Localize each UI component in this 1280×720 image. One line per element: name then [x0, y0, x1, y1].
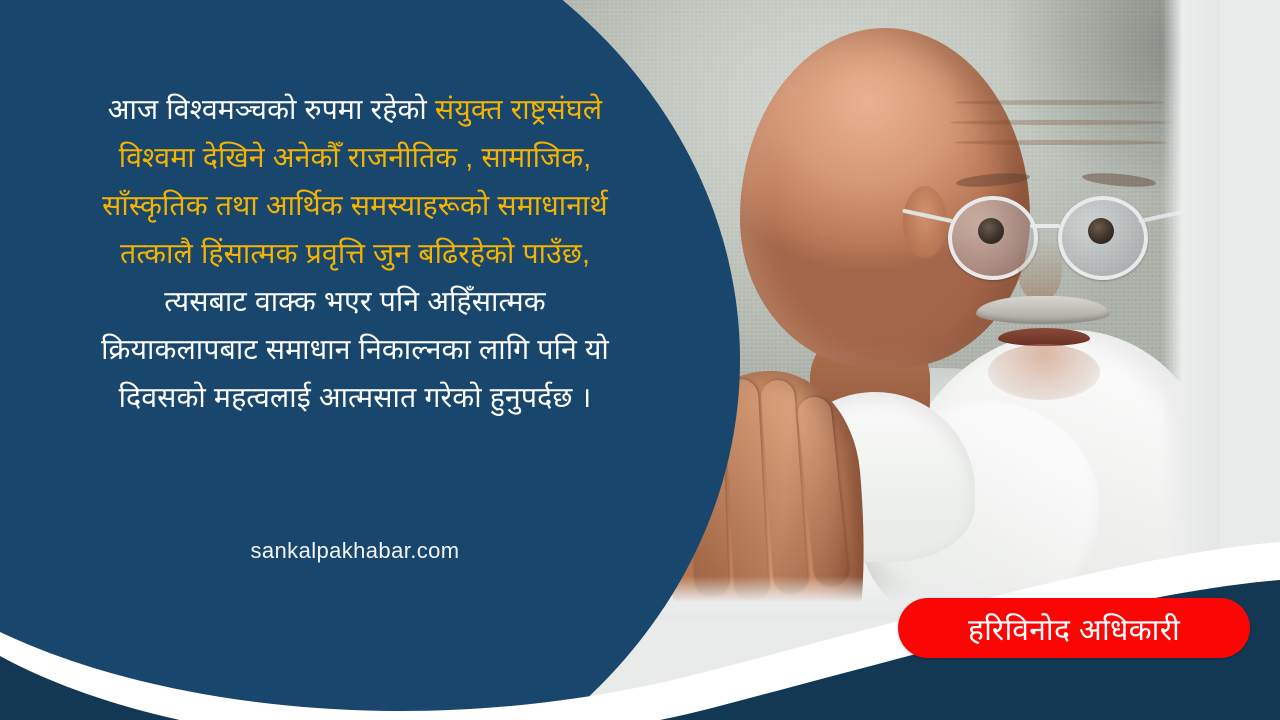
figure-moustache: [976, 296, 1110, 324]
quote-line: तत्कालै हिंसात्मक प्रवृत्ति जुन बढिरहेको…: [10, 230, 700, 278]
figure-chin: [988, 344, 1100, 400]
figure-nose: [1018, 240, 1062, 302]
quote-span: त्यसबाट वाक्क भएर पनि अहिँसात्मक: [164, 286, 545, 318]
forehead-wrinkle: [954, 140, 1168, 145]
quote-line: त्यसबाट वाक्क भएर पनि अहिँसात्मक: [10, 278, 700, 326]
quote-line: दिवसको महत्वलाई आत्मसात गरेको हुनुपर्दछ …: [10, 374, 700, 422]
quote-text: आज विश्वमञ्चको रुपमा रहेको संयुक्त राष्ट…: [10, 86, 700, 422]
figure-eye-left: [978, 218, 1004, 244]
figure-eyebrow-left: [956, 171, 1031, 189]
spectacles-bridge: [1030, 224, 1060, 228]
quote-span: दिवसको महत्वलाई आत्मसात गरेको हुनुपर्दछ …: [119, 382, 592, 414]
author-name-badge: हरिविनोद अधिकारी: [898, 598, 1250, 658]
figure-eye-right: [1088, 218, 1114, 244]
quote-span-highlight: संयुक्त राष्ट्रसंघले: [435, 94, 602, 126]
quote-span: क्रियाकलापबाट समाधान निकाल्नका लागि पनि …: [101, 334, 609, 366]
quote-line: विश्वमा देखिने अनेकौँ राजनीतिक , सामाजिक…: [10, 134, 700, 182]
quote-span-highlight: तत्कालै हिंसात्मक प्रवृत्ति जुन बढिरहेको…: [120, 238, 590, 270]
quote-span-highlight: साँस्कृतिक तथा आर्थिक समस्याहरूको समाधान…: [102, 190, 608, 222]
figure-ear-left: [903, 186, 947, 258]
quote-card: आज विश्वमञ्चको रुपमा रहेको संयुक्त राष्ट…: [0, 0, 1280, 720]
quote-line: क्रियाकलापबाट समाधान निकाल्नका लागि पनि …: [10, 326, 700, 374]
forehead-wrinkle: [950, 120, 1172, 125]
quote-line: आज विश्वमञ्चको रुपमा रहेको संयुक्त राष्ट…: [10, 86, 700, 134]
quote-span-highlight: विश्वमा देखिने अनेकौँ राजनीतिक , सामाजिक…: [119, 142, 592, 174]
bottom-wave-decoration: [0, 420, 1280, 720]
quote-span: आज विश्वमञ्चको रुपमा रहेको: [108, 94, 435, 126]
forehead-wrinkle: [955, 100, 1165, 105]
author-name-label: हरिविनोद अधिकारी: [968, 608, 1180, 649]
quote-line: साँस्कृतिक तथा आर्थिक समस्याहरूको समाधान…: [10, 182, 700, 230]
website-url: sankalpakhabar.com: [0, 538, 710, 564]
